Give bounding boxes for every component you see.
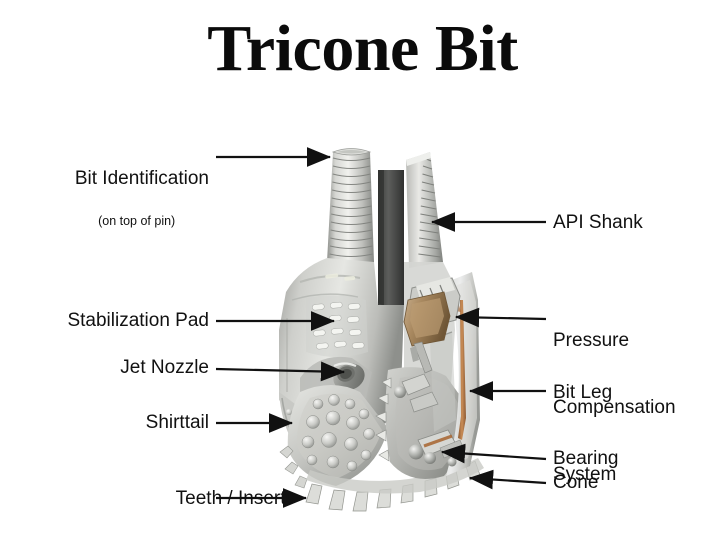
bit-bore-cutaway <box>378 170 404 318</box>
label-bit-leg: Bit Leg <box>553 382 612 404</box>
api-shank-cutaway <box>406 152 443 268</box>
label-pcs-line-1: Pressure <box>553 330 676 352</box>
stabilization-pad <box>306 295 368 357</box>
label-teeth-inserts: Teeth / Inserts <box>176 488 295 510</box>
label-jet-nozzle: Jet Nozzle <box>120 357 209 379</box>
leader-cone <box>470 478 546 483</box>
label-stabilization-pad: Stabilization Pad <box>67 310 209 332</box>
label-shirttail: Shirttail <box>146 412 209 434</box>
label-api-shank: API Shank <box>553 212 643 234</box>
api-shank-pin <box>327 149 374 263</box>
label-bit-identification: Bit Identification (on top of pin) <box>64 146 209 251</box>
label-cone: Cone <box>553 472 598 494</box>
label-bearing: Bearing <box>553 448 619 470</box>
label-bit-identification-text: Bit Identification <box>75 168 209 189</box>
label-bit-identification-sub: (on top of pin) <box>64 214 209 229</box>
